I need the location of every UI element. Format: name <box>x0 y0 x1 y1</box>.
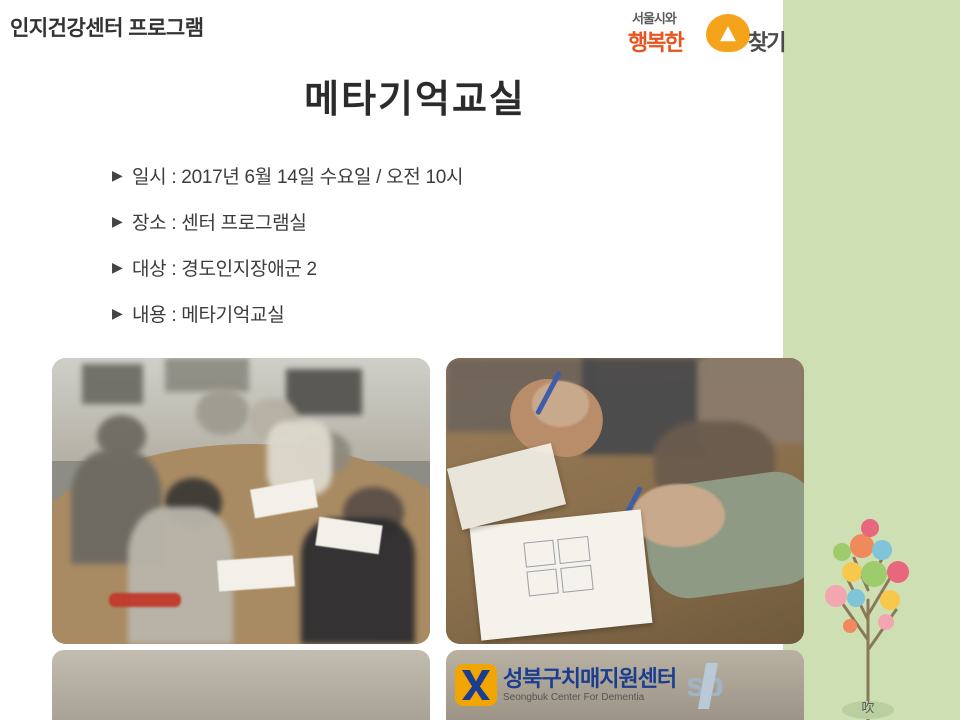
footer-logo: 성북구치매지원센터 Seongbuk Center For Dementia s… <box>455 655 785 715</box>
photo-blur-region <box>82 364 142 404</box>
photo-blur-region <box>286 369 362 415</box>
photo-worksheet <box>469 509 652 641</box>
bullet-text: 장소 : 센터 프로그램실 <box>132 208 307 235</box>
footer-logo-english-name: Seongbuk Center For Dementia <box>503 692 676 703</box>
worksheet-cell <box>526 569 559 597</box>
photo-hand <box>632 484 725 547</box>
photo-red-object <box>109 593 181 607</box>
bullet-text: 내용 : 메타기억교실 <box>132 300 284 327</box>
triangle-bullet-icon: ▶ <box>112 260 132 274</box>
footer-logo-korean-name: 성북구치매지원센터 <box>503 667 676 691</box>
slide: 인지건강센터 프로그램 서울시와 행복한 찾기 메타기억교실 ▶ 일시 : 20… <box>0 0 960 720</box>
seoul-logo-line3: 찾기 <box>748 25 784 57</box>
list-item: ▶ 대상 : 경도인지장애군 2 <box>112 244 752 290</box>
group-session-photo <box>52 358 430 644</box>
seoul-logo-line2: 행복한 <box>628 25 683 57</box>
bullet-list: ▶ 일시 : 2017년 6월 14일 수요일 / 오전 10시 ▶ 장소 : … <box>112 152 752 336</box>
triangle-bullet-icon: ▶ <box>112 214 132 228</box>
worksheet-cell <box>560 565 593 593</box>
svg-text:吹: 吹 <box>861 700 874 715</box>
list-item: ▶ 내용 : 메타기억교실 <box>112 290 752 336</box>
page-title: 메타기억교실 <box>0 68 830 123</box>
photo-paper <box>217 556 295 593</box>
triangle-bullet-icon: ▶ <box>112 168 132 182</box>
center-logo-mark-icon <box>455 664 497 706</box>
photo-blur-region <box>165 358 248 392</box>
program-label: 인지건강센터 프로그램 <box>10 12 204 42</box>
worksheet-cell <box>523 539 556 567</box>
list-item: ▶ 일시 : 2017년 6월 14일 수요일 / 오전 10시 <box>112 152 752 198</box>
seoul-happy-logo: 서울시와 행복한 찾기 <box>628 8 783 56</box>
photo-face-blur <box>196 389 249 435</box>
happy-blob-icon <box>706 14 750 52</box>
tree-decoration-icon: 吹 <box>790 450 950 720</box>
triangle-bullet-icon: ▶ <box>112 306 132 320</box>
bullet-text: 일시 : 2017년 6월 14일 수요일 / 오전 10시 <box>132 162 463 189</box>
worksheet-cell <box>557 536 590 564</box>
footer-logo-names: 성북구치매지원센터 Seongbuk Center For Dementia <box>503 667 676 702</box>
bullet-text: 대상 : 경도인지장애군 2 <box>132 254 317 281</box>
bottom-left-photo <box>52 650 430 720</box>
list-item: ▶ 장소 : 센터 프로그램실 <box>112 198 752 244</box>
worksheet-closeup-photo <box>446 358 804 644</box>
